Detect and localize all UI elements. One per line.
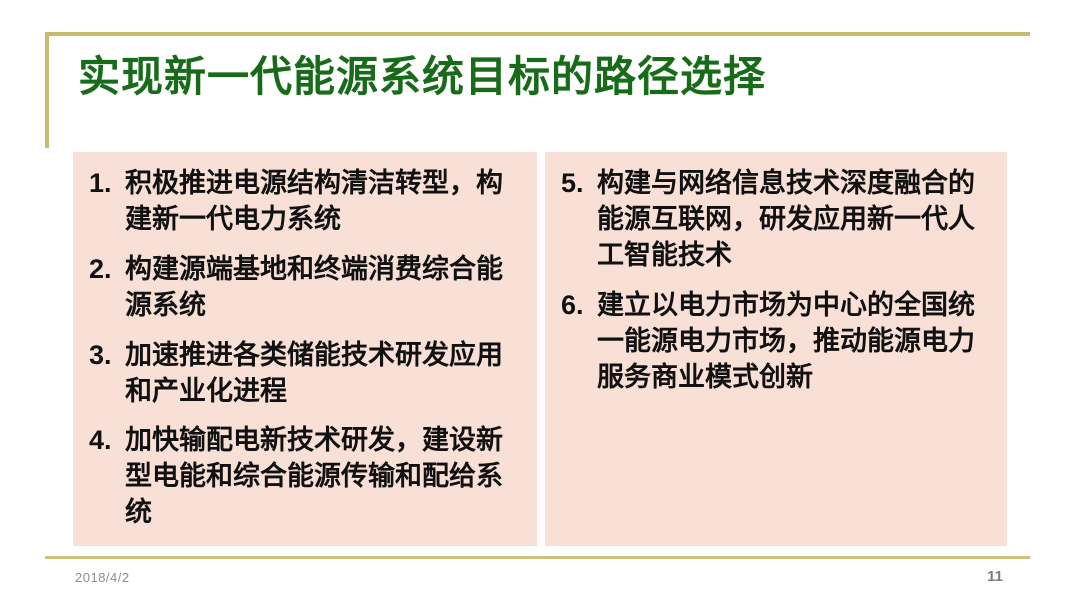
list-item-number: 3. — [81, 338, 125, 374]
list-item-text: 构建源端基地和终端消费综合能源系统 — [125, 252, 527, 324]
frame-left-rule — [45, 32, 49, 148]
list-item-text: 建立以电力市场为中心的全国统一能源电力市场，推动能源电力服务商业模式创新 — [597, 288, 997, 396]
list-item-number: 5. — [553, 166, 597, 202]
list-item-text: 加快输配电新技术研发，建设新型电能和综合能源传输和配给系统 — [125, 423, 527, 531]
list-item-number: 6. — [553, 288, 597, 324]
list-item: 3. 加速推进各类储能技术研发应用和产业化进程 — [81, 338, 527, 410]
list-item-number: 2. — [81, 252, 125, 288]
frame-top-rule — [45, 32, 1030, 36]
content-panel-left: 1. 积极推进电源结构清洁转型，构建新一代电力系统 2. 构建源端基地和终端消费… — [73, 152, 537, 546]
list-item: 1. 积极推进电源结构清洁转型，构建新一代电力系统 — [81, 166, 527, 238]
list-item: 5. 构建与网络信息技术深度融合的能源互联网，研发应用新一代人工智能技术 — [553, 166, 997, 274]
list-item-number: 4. — [81, 423, 125, 459]
slide-canvas: 实现新一代能源系统目标的路径选择 1. 积极推进电源结构清洁转型，构建新一代电力… — [0, 0, 1080, 608]
list-item: 4. 加快输配电新技术研发，建设新型电能和综合能源传输和配给系统 — [81, 423, 527, 531]
list-item: 6. 建立以电力市场为中心的全国统一能源电力市场，推动能源电力服务商业模式创新 — [553, 288, 997, 396]
footer-page-number: 11 — [975, 568, 1015, 585]
list-item-text: 加速推进各类储能技术研发应用和产业化进程 — [125, 338, 527, 410]
footer-date: 2018/4/2 — [75, 570, 130, 585]
frame-bottom-rule — [45, 556, 1030, 559]
list-item-number: 1. — [81, 166, 125, 202]
content-panel-right: 5. 构建与网络信息技术深度融合的能源互联网，研发应用新一代人工智能技术 6. … — [545, 152, 1007, 546]
list-item: 2. 构建源端基地和终端消费综合能源系统 — [81, 252, 527, 324]
page-title: 实现新一代能源系统目标的路径选择 — [78, 52, 998, 102]
list-item-text: 积极推进电源结构清洁转型，构建新一代电力系统 — [125, 166, 527, 238]
list-item-text: 构建与网络信息技术深度融合的能源互联网，研发应用新一代人工智能技术 — [597, 166, 997, 274]
